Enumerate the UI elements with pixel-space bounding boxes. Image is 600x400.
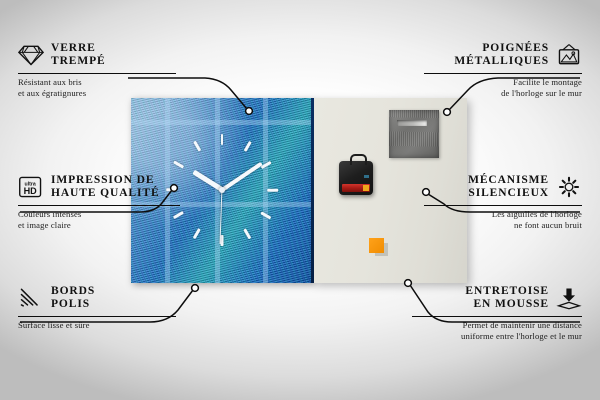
ultra-hd-icon-bottom: HD [24,186,38,196]
callout-heading: ENTRETOISE EN MOUSSE [412,283,582,313]
callout-title: MÉCANISME SILENCIEUX [468,174,549,201]
clock-hour-marker [193,141,201,152]
callout-title-line2: SILENCIEUX [468,187,549,201]
callout-title-line2: EN MOUSSE [465,298,549,312]
callout-sub-line2: et aux égratignures [18,88,176,99]
infographic-canvas: VERRE TREMPÉ Résistant aux bris et aux é… [0,0,600,400]
hanging-frame-icon [556,43,582,67]
callout-title: VERRE TREMPÉ [51,42,106,69]
handle-slot [397,120,427,126]
clock-mechanism [339,161,373,195]
callout-heading: ultra HD IMPRESSION DE HAUTE QUALITÉ [18,172,180,202]
callout-title-line1: VERRE [51,42,106,56]
clock-hour-marker [243,228,251,239]
callout-subtitle: Couleurs intenses et image claire [18,209,180,230]
mechanism-hanging-loop [350,154,367,165]
product-image [131,98,467,283]
callout-divider [18,73,176,74]
callout-title-line2: MÉTALLIQUES [454,55,549,69]
callout-sub-line1: Surface lisse et sûre [18,320,176,331]
gear-icon [556,175,582,199]
callout-impression-haute-qualite: ultra HD IMPRESSION DE HAUTE QUALITÉ Cou… [18,172,180,230]
foam-spacer [369,238,384,253]
callout-sub-line2: de l'horloge sur le mur [424,88,582,99]
mechanism-label [364,175,369,178]
callout-sub-line1: Permet de maintenir une distance [412,320,582,331]
callout-subtitle: Les aiguilles de l'horloge ne font aucun… [424,209,582,230]
clock-hour-marker [193,228,201,239]
callout-heading: VERRE TREMPÉ [18,40,176,70]
callout-mecanisme-silencieux: MÉCANISME SILENCIEUX Les aiguilles de l'… [424,172,582,230]
callout-divider [18,205,180,206]
callout-sub-line1: Les aiguilles de l'horloge [424,209,582,220]
callout-subtitle: Facilite le montage de l'horloge sur le … [424,77,582,98]
callout-title-line1: MÉCANISME [468,174,549,188]
foam-spacer-icon [556,286,582,310]
battery-terminal [363,185,369,191]
handle-plate [389,110,439,158]
callout-heading: POIGNÉES MÉTALLIQUES [424,40,582,70]
callout-sub-line1: Résistant aux bris [18,77,176,88]
callout-sub-line2: uniforme entre l'horloge et le mur [412,331,582,342]
callout-title-line1: ENTRETOISE [465,285,549,299]
callout-title-line2: TREMPÉ [51,55,106,69]
callout-subtitle: Résistant aux bris et aux égratignures [18,77,176,98]
polished-edges-icon [18,286,44,310]
battery [342,184,370,192]
callout-verre-trempe: VERRE TREMPÉ Résistant aux bris et aux é… [18,40,176,98]
callout-subtitle: Permet de maintenir une distance uniform… [412,320,582,341]
callout-title: POIGNÉES MÉTALLIQUES [454,42,549,69]
clock-hour-marker [267,189,278,192]
clock-minute-hand [221,162,263,192]
callout-divider [412,316,582,317]
clock-hour-marker [221,134,224,145]
connector-endpoint [192,285,199,292]
callout-poignees-metalliques: POIGNÉES MÉTALLIQUES Facilite le montage… [424,40,582,98]
callout-heading: MÉCANISME SILENCIEUX [424,172,582,202]
callout-bords-polis: BORDS POLIS Surface lisse et sûre [18,283,176,331]
diamond-icon [18,43,44,67]
callout-title-line2: POLIS [51,298,95,312]
panel-seam [311,98,314,283]
callout-title: BORDS POLIS [51,285,95,312]
callout-subtitle: Surface lisse et sûre [18,320,176,331]
clock-hour-marker [173,161,184,169]
callout-title-line1: POIGNÉES [454,42,549,56]
callout-title: ENTRETOISE EN MOUSSE [465,285,549,312]
callout-divider [424,73,582,74]
clock-center-cap [219,187,225,193]
callout-title-line1: IMPRESSION DE [51,174,160,188]
clock-hour-marker [221,235,224,246]
callout-divider [424,205,582,206]
art-grid-line [131,120,313,125]
callout-sub-line1: Couleurs intenses [18,209,180,220]
callout-sub-line2: ne font aucun bruit [424,220,582,231]
callout-sub-line1: Facilite le montage [424,77,582,88]
clock-hour-marker [243,141,251,152]
ultra-hd-icon: ultra HD [18,175,44,199]
callout-heading: BORDS POLIS [18,283,176,313]
callout-divider [18,316,176,317]
callout-entretoise-en-mousse: ENTRETOISE EN MOUSSE Permet de maintenir… [412,283,582,341]
callout-title: IMPRESSION DE HAUTE QUALITÉ [51,174,160,201]
callout-title-line1: BORDS [51,285,95,299]
callout-title-line2: HAUTE QUALITÉ [51,187,160,201]
callout-sub-line2: et image claire [18,220,180,231]
